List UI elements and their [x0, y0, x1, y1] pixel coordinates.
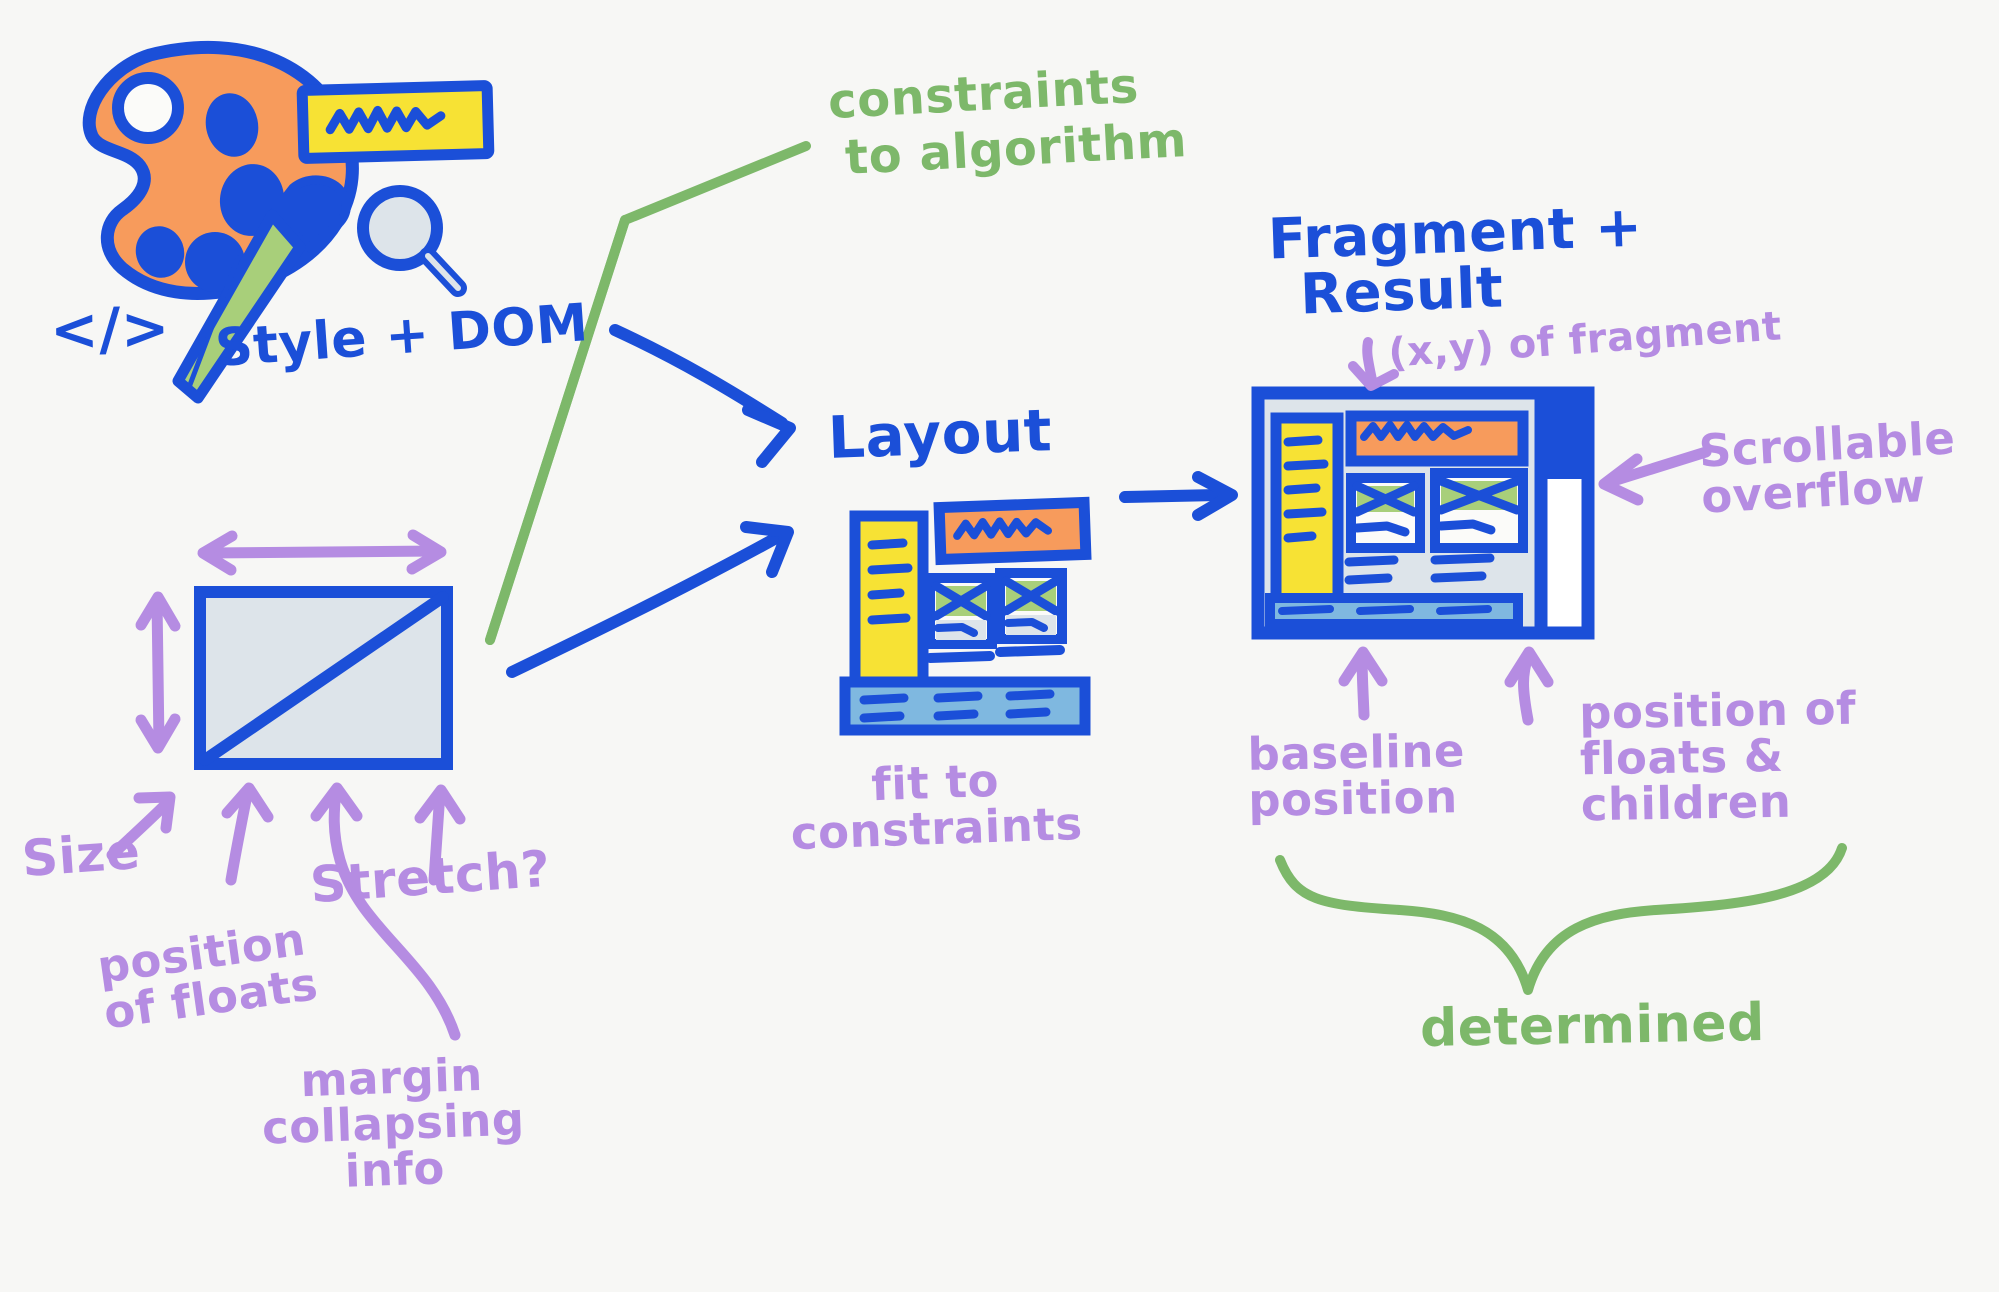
position-of-floats-children-label: position of floats & children: [1579, 686, 1858, 828]
layout-stage-title: Layout: [827, 401, 1053, 468]
height-dimension-arrow: [141, 597, 175, 748]
floats-children-callout-arrow: [1510, 652, 1548, 720]
paint-palette-icon: [89, 47, 352, 293]
code-tag-icon: </>: [49, 299, 170, 360]
box-to-layout-arrow: [512, 527, 788, 672]
constraint-box-shape: [200, 592, 447, 764]
diagram-canvas: .bst{stroke:#1b4fd8;fill:none;stroke-lin…: [0, 0, 1999, 1292]
determined-label: determined: [1420, 997, 1766, 1056]
yellow-text-bar-icon: [302, 86, 489, 159]
style-to-layout-arrow: [615, 330, 790, 462]
result-mockup: [1258, 393, 1588, 633]
constraints-to-algorithm-line: [490, 146, 806, 640]
width-dimension-arrow: [203, 535, 441, 570]
result-stage-title-line2: Result: [1299, 259, 1504, 323]
scrollable-overflow-callout-arrow: [1604, 452, 1706, 500]
fit-to-constraints-caption: fit to constraints: [788, 755, 1083, 857]
position-of-floats-callout-arrow: [227, 788, 268, 880]
magnifying-glass-icon: [363, 191, 458, 288]
layout-mockup: [845, 502, 1086, 730]
size-label: Size: [20, 826, 141, 885]
scrollable-overflow-label: Scrollable overflow: [1698, 415, 1959, 520]
layout-to-result-arrow: [1125, 477, 1232, 515]
determined-brace: [1280, 848, 1842, 990]
margin-collapsing-info-label: margin collapsing info: [260, 1050, 527, 1197]
baseline-position-label: baseline position: [1247, 728, 1466, 824]
baseline-position-callout-arrow: [1344, 652, 1382, 715]
